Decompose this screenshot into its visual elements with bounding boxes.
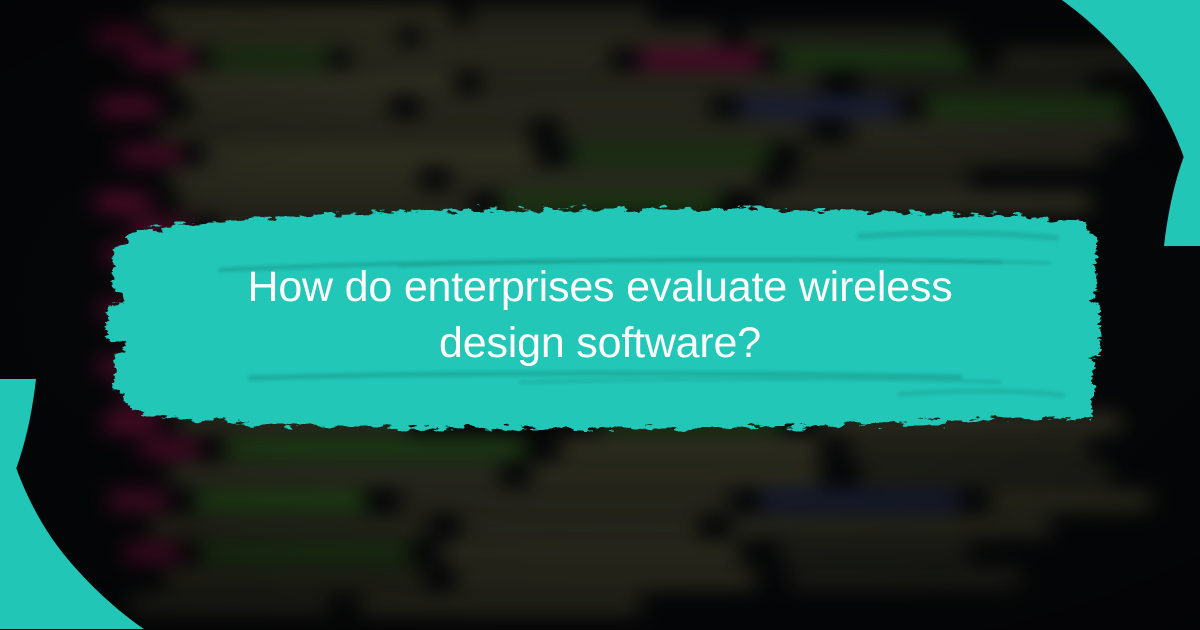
code-line [420, 100, 710, 113]
code-line [850, 442, 1090, 455]
code-line [190, 100, 390, 113]
code-line [740, 100, 900, 113]
code-line [205, 148, 535, 161]
code-line [790, 572, 1020, 585]
code-line [990, 494, 1150, 507]
code-line [210, 52, 330, 65]
code-line [745, 30, 955, 43]
code-line [360, 598, 640, 611]
code-line [455, 572, 755, 585]
code-line [95, 30, 147, 43]
code-line [120, 148, 180, 161]
code-line [460, 520, 700, 533]
code-line [560, 442, 820, 455]
code-line [175, 76, 455, 89]
code-line [790, 172, 970, 185]
code-line [420, 30, 720, 43]
card-headline: How do enterprises evaluate wireless des… [150, 196, 1050, 436]
code-line [640, 52, 760, 65]
code-line [450, 172, 760, 185]
code-line [440, 546, 740, 559]
code-line [400, 494, 730, 507]
code-line [150, 8, 450, 21]
code-line [170, 468, 500, 481]
code-line [530, 468, 820, 481]
code-line [130, 52, 192, 65]
code-line [200, 546, 410, 559]
code-line [570, 148, 770, 161]
code-line [780, 546, 970, 559]
code-line [195, 494, 365, 507]
code-line [225, 442, 525, 455]
code-line [730, 520, 1050, 533]
code-line [470, 8, 650, 21]
social-share-card: How do enterprises evaluate wireless des… [0, 0, 1200, 630]
code-line [160, 124, 530, 137]
code-line [860, 468, 1110, 481]
code-line [560, 124, 810, 137]
code-line [480, 76, 820, 89]
code-line [168, 30, 398, 43]
code-line [350, 52, 610, 65]
code-line [170, 172, 420, 185]
code-line [760, 494, 960, 507]
code-line [780, 52, 970, 65]
code-line [100, 100, 158, 113]
